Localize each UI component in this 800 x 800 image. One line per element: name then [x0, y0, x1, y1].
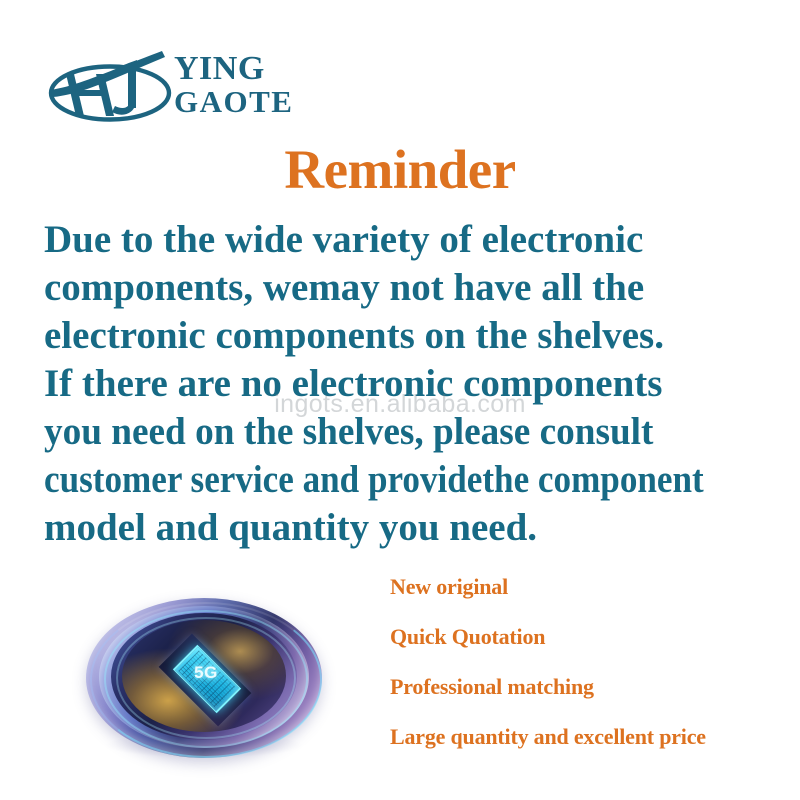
body-line: you need on the shelves, please consult: [44, 408, 739, 456]
feature-list: New original Quick Quotation Professiona…: [390, 576, 790, 776]
reminder-banner: YING GAOTE Reminder Due to the wide vari…: [0, 0, 800, 800]
disc-arc-3: [116, 617, 296, 739]
reminder-body-text: Due to the wide variety of electronic co…: [44, 216, 772, 552]
page-title: Reminder: [0, 141, 800, 199]
disc-shadow: [104, 732, 304, 758]
body-line: customer service and providethe componen…: [44, 456, 699, 504]
brand-name-line-1: YING: [174, 52, 293, 85]
body-line: model and quantity you need.: [44, 504, 772, 552]
body-line: Due to the wide variety of electronic: [44, 216, 772, 264]
feature-item: Quick Quotation: [390, 626, 790, 676]
brand-logo: YING GAOTE: [44, 46, 344, 128]
feature-item: Professional matching: [390, 676, 790, 726]
hg-monogram-ellipse-logo: [44, 46, 176, 126]
body-line: electronic components on the shelves.: [44, 312, 772, 360]
brand-name-line-2: GAOTE: [174, 85, 293, 118]
brand-wordmark: YING GAOTE: [174, 52, 293, 118]
feature-item: New original: [390, 576, 790, 626]
body-line: If there are no electronic components: [44, 360, 772, 408]
feature-item: Large quantity and excellent price: [390, 726, 790, 776]
product-image-5g-chip: 5G: [78, 580, 328, 775]
body-line: components, wemay not have all the: [44, 264, 772, 312]
